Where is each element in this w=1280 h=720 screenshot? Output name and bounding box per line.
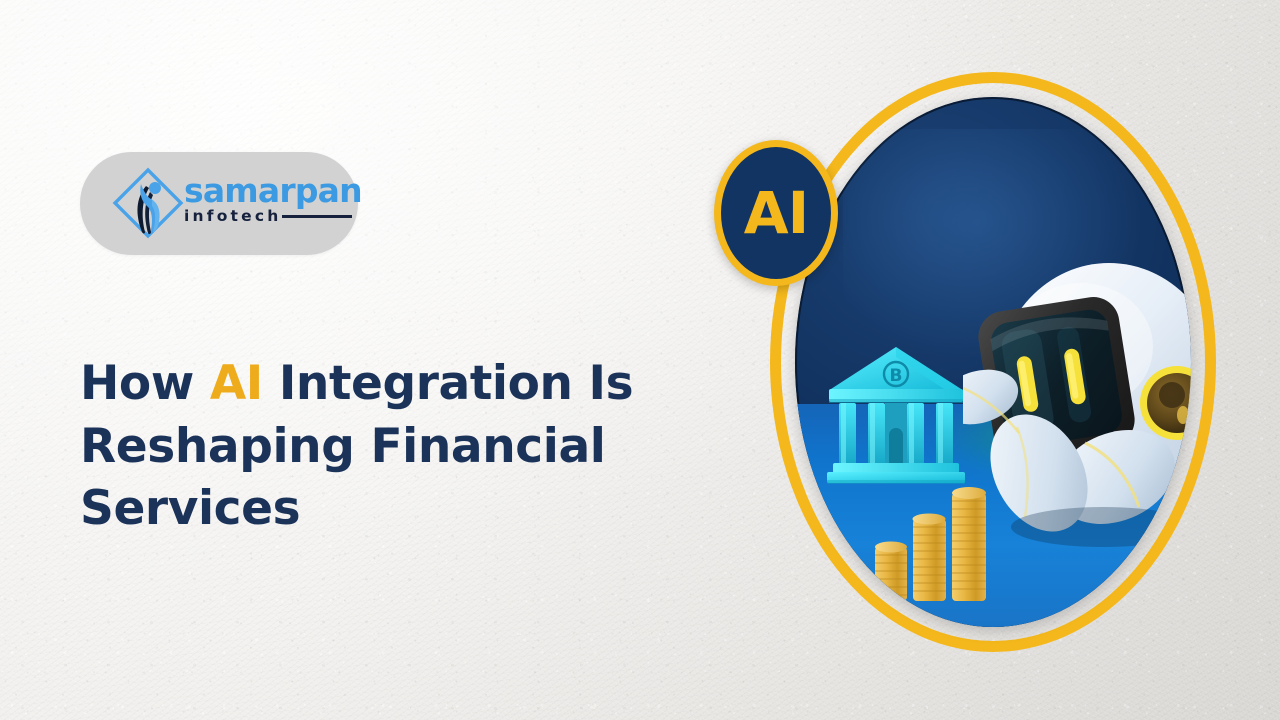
brand-logo[interactable]: samarpan infotech [80, 152, 358, 255]
logo-name-secondary: infotech [184, 209, 281, 225]
bank-building-icon: B [823, 339, 969, 489]
ai-badge[interactable]: AI [714, 140, 838, 286]
page-title: How AI Integration Is Reshaping Financia… [80, 353, 660, 539]
headline-accent-ai: AI [210, 356, 263, 411]
logo-underline-rule [282, 215, 352, 218]
hero-illustration: B [706, 62, 1226, 662]
ai-financial-services-banner: samarpan infotech How AI Integration Is … [0, 0, 1280, 720]
logo-wordmark: samarpan infotech [184, 174, 352, 225]
hero-navy-disc: B [795, 97, 1191, 627]
diamond-person-logo-icon [111, 166, 185, 240]
logo-subtitle-row: infotech [184, 209, 352, 225]
ai-badge-label: AI [744, 184, 808, 242]
ai-robot-icon [963, 255, 1191, 555]
logo-name-primary: samarpan [184, 174, 352, 207]
headline-part-1: How [80, 356, 210, 411]
svg-text:B: B [890, 366, 903, 386]
